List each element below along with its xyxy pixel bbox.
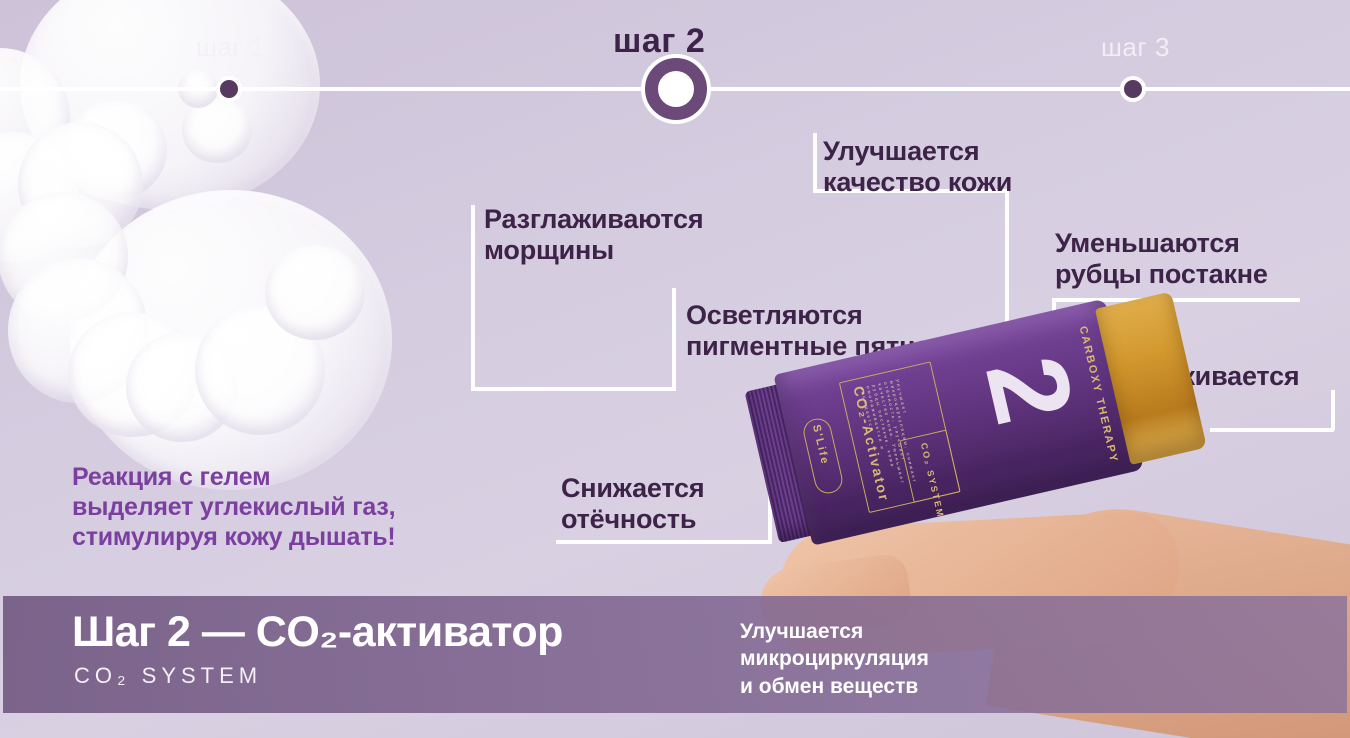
step-node-3[interactable] — [1120, 76, 1146, 102]
gel-note-line1: Реакция с гелем — [72, 462, 396, 492]
connector-wrinkles-vertical — [471, 205, 475, 391]
band-note-line3: и обмен веществ — [740, 673, 929, 700]
callout-skin-quality: Улучшается качество кожи — [823, 136, 1012, 198]
callout-wrinkles-line1: Разглаживаются — [484, 204, 703, 235]
connector-wrinkles-horizontal — [471, 387, 676, 391]
callout-pigment-line1: Осветляются — [686, 300, 930, 331]
callout-puffiness: Снижается отёчность — [561, 473, 704, 535]
callout-puffiness-line1: Снижается — [561, 473, 704, 504]
connector-pigment-vertical — [672, 288, 676, 391]
gel-reaction-note: Реакция с гелем выделяет углекислый газ,… — [72, 462, 396, 552]
step-label-2: шаг 2 — [613, 22, 705, 61]
step-label-1: шаг 1 — [196, 32, 265, 63]
callout-wrinkles-line2: морщины — [484, 235, 703, 266]
step-label-3: шаг 3 — [1101, 32, 1170, 63]
tube-step-number: 2 — [968, 347, 1091, 433]
band-note: Улучшается микроциркуляция и обмен вещес… — [740, 618, 929, 700]
callout-wrinkles: Разглаживаются морщины — [484, 204, 703, 266]
connector-skinquality-vertical — [813, 133, 817, 193]
slide-root: шаг 1 шаг 2 шаг 3 Разглаживаются морщины… — [0, 0, 1350, 738]
band-title: Шаг 2 — CO₂-активатор — [72, 611, 563, 654]
step-node-1[interactable] — [216, 76, 242, 102]
band-note-line2: микроциркуляция — [740, 645, 929, 672]
callout-skin-quality-line1: Улучшается — [823, 136, 1012, 167]
callout-skin-quality-line2: качество кожи — [823, 167, 1012, 198]
callout-puffiness-line2: отёчность — [561, 504, 704, 535]
gel-note-line3: стимулируя кожу дышать! — [72, 522, 396, 552]
band-subtitle: CO₂ SYSTEM — [74, 663, 262, 689]
callout-acne-scars-line1: Уменьшаются — [1055, 228, 1268, 259]
callout-acne-scars: Уменьшаются рубцы постакне — [1055, 228, 1268, 290]
band-note-line1: Улучшается — [740, 618, 929, 645]
gel-note-line2: выделяет углекислый газ, — [72, 492, 396, 522]
step-node-2[interactable] — [645, 58, 707, 120]
